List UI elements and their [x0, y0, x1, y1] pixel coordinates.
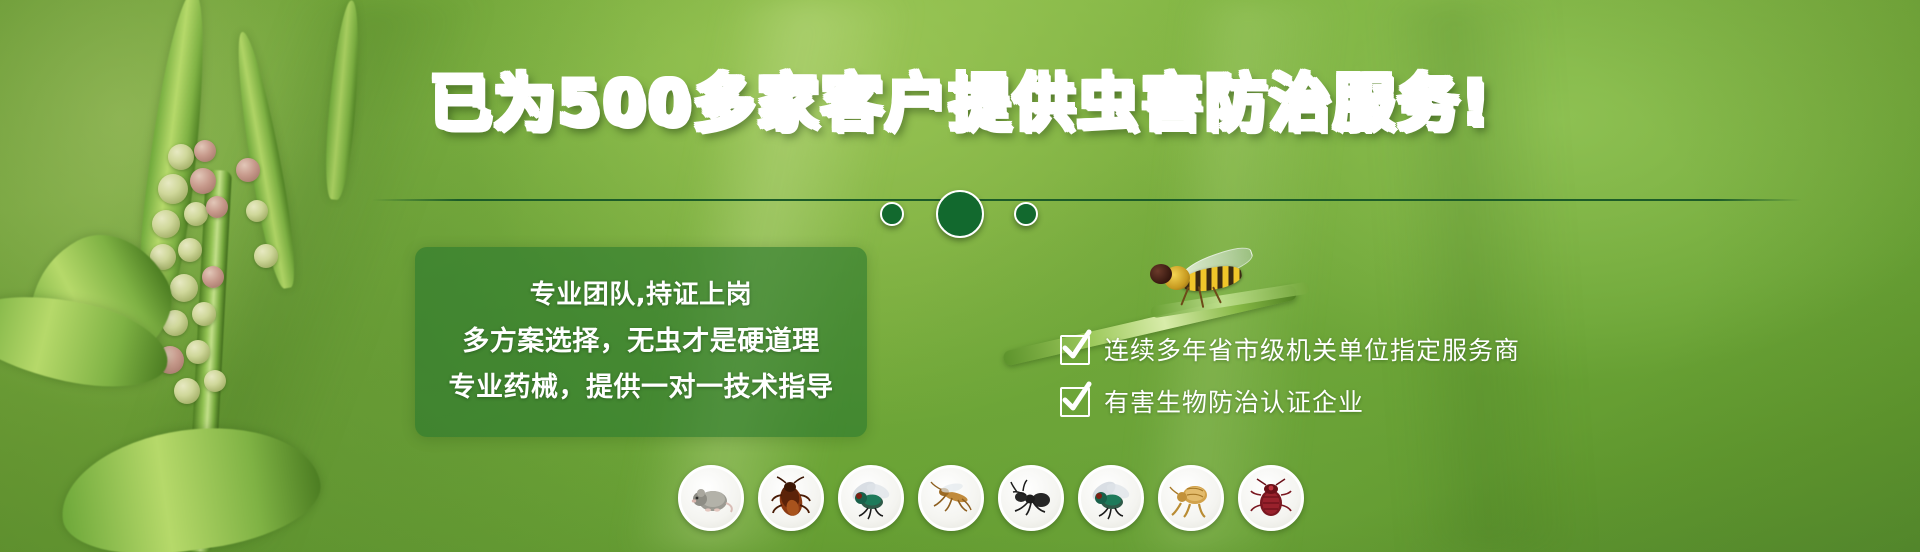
banner-headline-text: 已为500多家客户提供虫害防治服务!	[429, 66, 1491, 139]
feature-highlight-list: 专业团队,持证上岗 多方案选择，无虫才是硬道理 专业药械，提供一对一技术指导	[415, 247, 867, 437]
pest-icon-blowfly[interactable]: 绿头蝇	[1078, 465, 1144, 531]
mosquito-icon	[928, 475, 974, 521]
feature-line-1: 专业团队,持证上岗	[530, 281, 752, 311]
list-item: 连续多年省市级机关单位指定服务商	[1060, 335, 1680, 365]
pest-control-hero-banner: 已为500多家客户提供虫害防治服务! 专业团队,持证上岗 多方案选择，无虫才是硬…	[0, 0, 1920, 552]
pest-icon-cockroach[interactable]: 蟑螂	[758, 465, 824, 531]
pest-types-row: 鼠 蟑螂	[678, 465, 1304, 531]
feature-line-3: 专业药械，提供一对一技术指导	[449, 372, 834, 403]
list-item: 有害生物防治认证企业	[1060, 387, 1680, 417]
rat-icon	[688, 475, 734, 521]
checklist-label: 有害生物防治认证企业	[1104, 390, 1364, 415]
bedbug-icon	[1248, 475, 1294, 521]
banner-headline: 已为500多家客户提供虫害防治服务!	[0, 72, 1920, 134]
dot-large-center-icon	[936, 190, 984, 238]
decorative-dots-group	[880, 188, 1110, 244]
flea-icon	[1168, 475, 1214, 521]
pest-icon-fly[interactable]: 苍蝇	[838, 465, 904, 531]
blowfly-icon	[1088, 475, 1134, 521]
certification-checklist: 连续多年省市级机关单位指定服务商 有害生物防治认证企业	[1060, 335, 1680, 439]
pest-icon-bedbug[interactable]: 臭虫	[1238, 465, 1304, 531]
checklist-label: 连续多年省市级机关单位指定服务商	[1104, 338, 1520, 363]
feature-line-2: 多方案选择，无虫才是硬道理	[462, 326, 820, 357]
pest-icon-flea[interactable]: 跳蚤	[1158, 465, 1224, 531]
fly-icon	[848, 475, 894, 521]
pest-icon-mosquito[interactable]: 蚊	[918, 465, 984, 531]
pest-icon-rat[interactable]: 鼠	[678, 465, 744, 531]
flower-bud-cluster	[150, 140, 350, 480]
cockroach-icon	[768, 475, 814, 521]
ant-icon	[1008, 475, 1054, 521]
dot-small-right-icon	[1014, 202, 1038, 226]
checkbox-checked-icon	[1060, 387, 1090, 417]
pest-icon-ant[interactable]: 蚂蚁	[998, 465, 1064, 531]
hoverfly-icon	[1150, 252, 1280, 306]
dot-small-left-icon	[880, 202, 904, 226]
checkbox-checked-icon	[1060, 335, 1090, 365]
